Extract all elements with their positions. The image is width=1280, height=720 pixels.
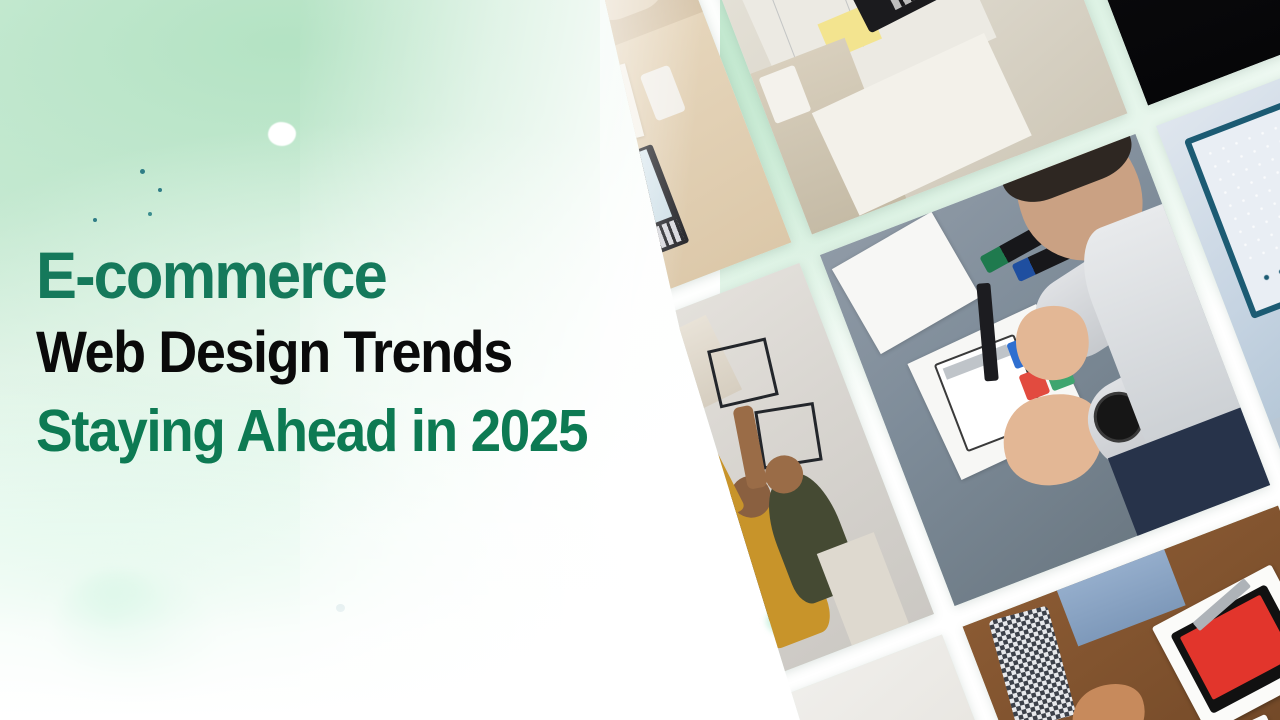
teal-dot-upper-icon	[140, 169, 145, 174]
teal-dot-extra-icon	[148, 212, 152, 216]
white-blob-icon	[268, 122, 296, 146]
headline-block: E-commerce Web Design Trends Staying Ahe…	[36, 242, 796, 461]
headline-line-2: Web Design Trends	[36, 324, 743, 382]
headline-line-3: Staying Ahead in 2025	[36, 402, 743, 461]
poster-canvas: </>	[0, 0, 1280, 720]
headline-line-1: E-commerce	[36, 242, 743, 308]
teal-dot-lower-icon	[93, 218, 97, 222]
teal-dot-mid-icon	[158, 188, 162, 192]
